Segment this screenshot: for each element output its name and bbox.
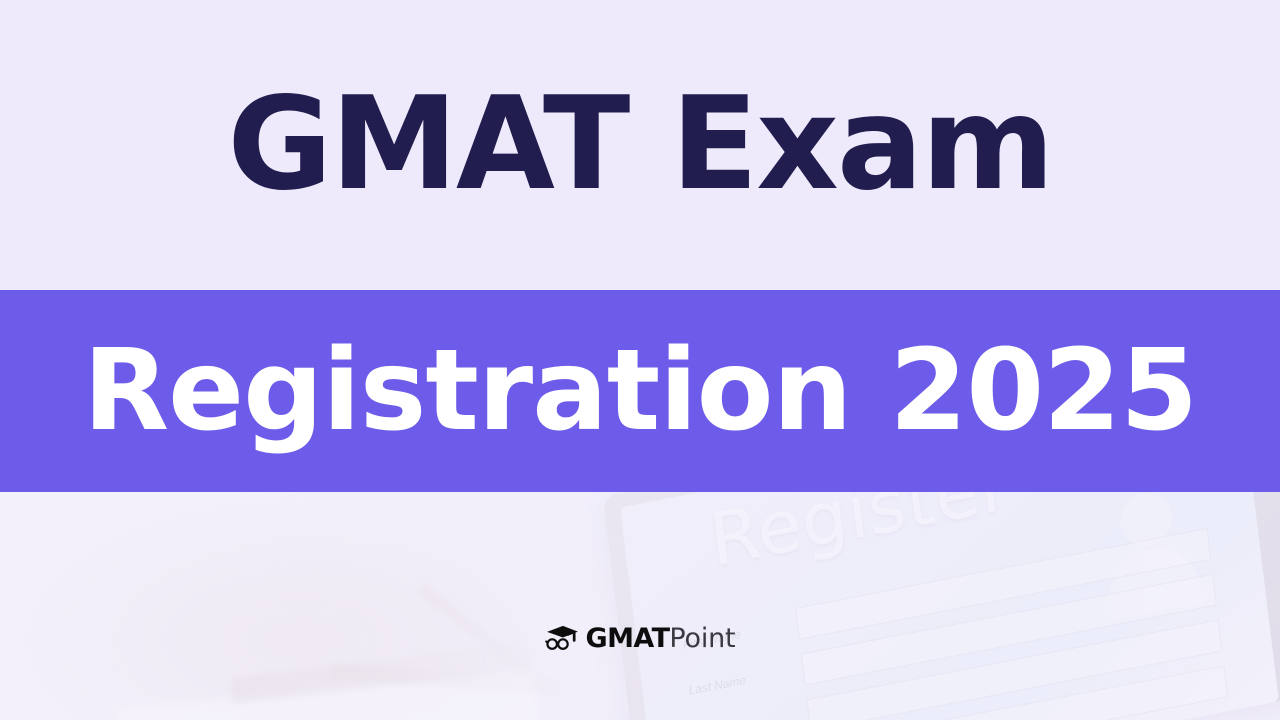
- page-title-line1: GMAT Exam: [0, 0, 1280, 290]
- graduation-cap-glasses-icon: [545, 624, 579, 652]
- last-name-label: Last Name: [688, 663, 798, 698]
- purple-band: Registration 2025: [0, 290, 1280, 492]
- logo-wordmark: GMATPoint: [586, 625, 736, 652]
- banner: 97% Register First Name Last Name: [0, 0, 1280, 720]
- brand-logo[interactable]: GMATPoint: [0, 618, 1280, 658]
- logo-gmat-text: GMAT: [586, 625, 670, 652]
- page-title-line2: Registration 2025: [83, 335, 1197, 447]
- logo-point-text: Point: [669, 625, 735, 652]
- headline-area: GMAT Exam: [0, 0, 1280, 290]
